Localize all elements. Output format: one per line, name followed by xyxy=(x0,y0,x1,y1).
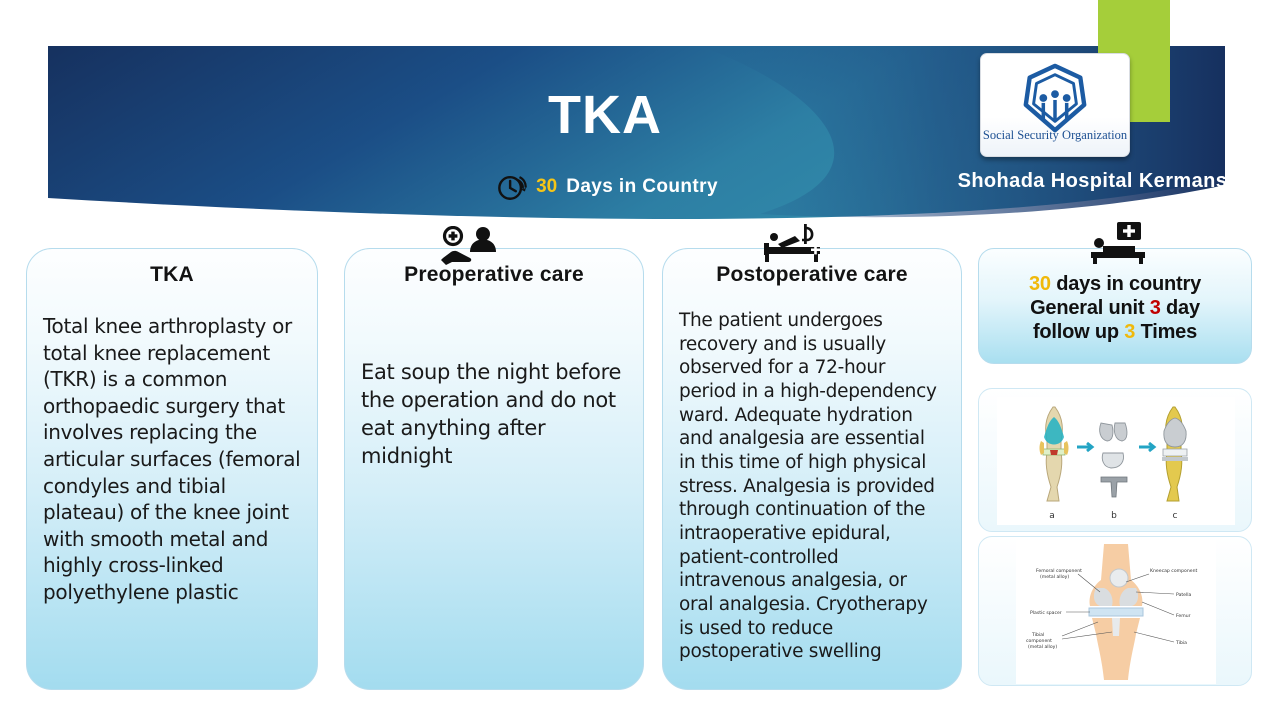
patient-bed-cross-icon xyxy=(1089,222,1149,264)
stats-line-3: follow up 3 Times xyxy=(1033,321,1197,344)
organization-logo-card: Social Security Organization xyxy=(980,53,1130,157)
social-security-hexagon-icon xyxy=(1016,62,1094,136)
svg-text:c: c xyxy=(1173,511,1178,521)
days-label: Days in Country xyxy=(566,176,718,198)
logo-caption: Social Security Organization xyxy=(980,128,1130,143)
stats-day-label: day xyxy=(1166,297,1200,319)
card-body: Eat soup the night before the operation … xyxy=(361,359,627,471)
card-title: TKA xyxy=(43,263,301,287)
card-body: The patient undergoes recovery and is us… xyxy=(679,309,945,664)
svg-text:Plastic spacer: Plastic spacer xyxy=(1030,610,1062,616)
stats-general-unit-days: 3 xyxy=(1150,297,1161,319)
svg-text:Tibial: Tibial xyxy=(1031,632,1044,638)
svg-text:(metal alloy): (metal alloy) xyxy=(1028,644,1057,650)
figure-knee-anatomy: Femoral component (metal alloy) Kneecap … xyxy=(978,536,1252,686)
svg-text:component: component xyxy=(1026,638,1052,644)
card-title: Postoperative care xyxy=(679,263,945,287)
hand-holding-patient-icon xyxy=(440,226,506,266)
stats-line-1: 30 days in country xyxy=(1029,273,1201,296)
hospital-name: Shohada Hospital Kermanshah xyxy=(958,170,1264,193)
svg-text:b: b xyxy=(1111,511,1117,521)
knee-anatomy-diagram: Femoral component (metal alloy) Kneecap … xyxy=(1016,540,1216,684)
svg-text:(metal alloy): (metal alloy) xyxy=(1040,574,1069,580)
svg-text:a: a xyxy=(1049,511,1055,521)
svg-text:Femur: Femur xyxy=(1176,613,1191,619)
card-body: Total knee arthroplasty or total knee re… xyxy=(43,313,301,606)
card-tka: TKA Total knee arthroplasty or total kne… xyxy=(26,248,318,690)
stats-general-unit-label: General unit xyxy=(1030,297,1144,319)
slide: TKA 30 Days in Country Shohada Hospital … xyxy=(0,0,1280,720)
stats-line-2: General unit 3 day xyxy=(1030,297,1200,320)
card-title: Preoperative care xyxy=(361,263,627,287)
svg-text:Kneecap component: Kneecap component xyxy=(1150,568,1197,574)
stats-days-count: 30 xyxy=(1029,273,1051,295)
svg-text:Tibia: Tibia xyxy=(1175,640,1187,646)
stats-times-label: Times xyxy=(1141,321,1197,343)
card-postoperative-care: Postoperative care The patient undergoes… xyxy=(662,248,962,690)
stats-card: 30 days in country General unit 3 day fo… xyxy=(978,248,1252,364)
stats-followup-count: 3 xyxy=(1124,321,1135,343)
card-preoperative-care: Preoperative care Eat soup the night bef… xyxy=(344,248,644,690)
knee-implant-stages-diagram: a b c xyxy=(997,397,1235,525)
patient-bed-iv-icon xyxy=(762,222,824,264)
svg-text:Femoral component: Femoral component xyxy=(1036,568,1082,574)
figure-knee-implant-stages: a b c xyxy=(978,388,1252,532)
days-count: 30 xyxy=(536,176,557,198)
clock-icon xyxy=(497,172,527,202)
svg-text:Patella: Patella xyxy=(1176,592,1192,598)
stats-followup-label: follow up xyxy=(1033,321,1119,343)
stats-days-label: days in country xyxy=(1056,273,1201,295)
